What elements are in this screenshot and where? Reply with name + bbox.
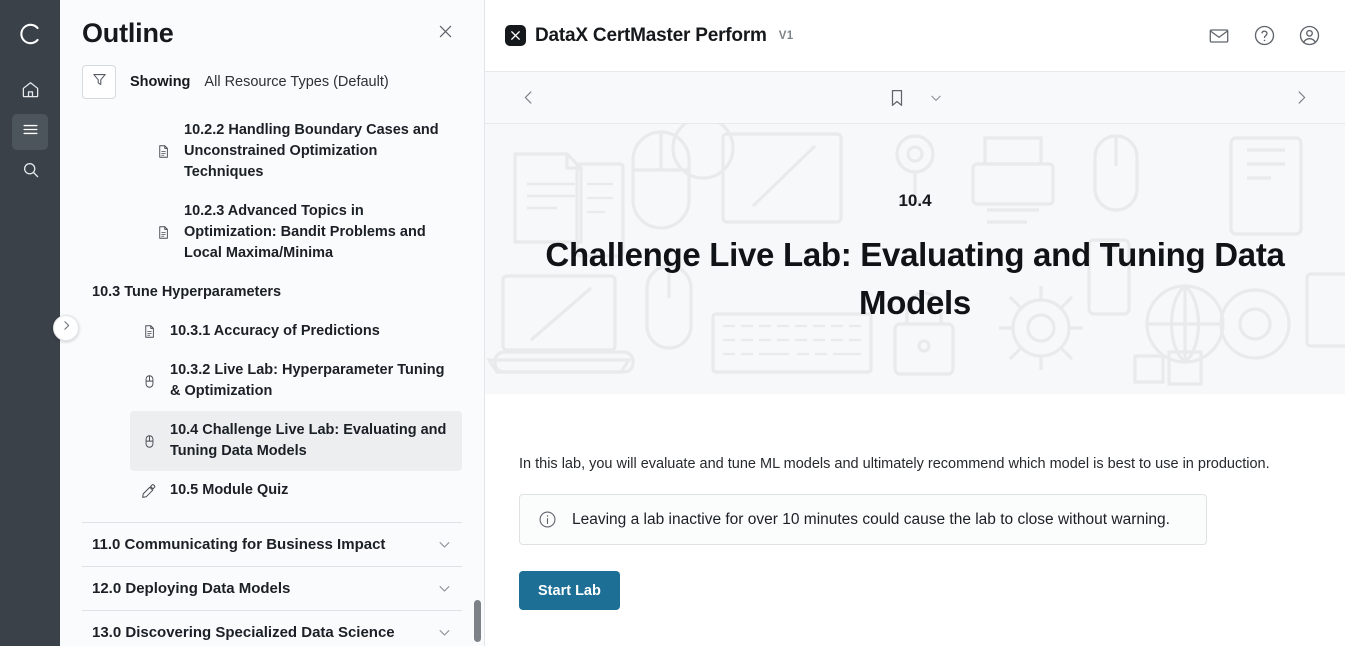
list-item[interactable]: 10.3.1 Accuracy of Predictions xyxy=(130,312,462,351)
list-item-label: 10.5 Module Quiz xyxy=(170,480,288,501)
close-outline-button[interactable] xyxy=(430,19,460,49)
list-item[interactable]: 10.5 Module Quiz xyxy=(130,471,462,510)
list-item-selected[interactable]: 10.4 Challenge Live Lab: Evaluating and … xyxy=(130,411,462,471)
document-icon xyxy=(140,324,158,339)
outline-scrollbar-track[interactable] xyxy=(474,0,481,646)
list-item[interactable]: 10.2.2 Handling Boundary Cases and Uncon… xyxy=(144,111,462,192)
list-item-label: 10.2.2 Handling Boundary Cases and Uncon… xyxy=(184,120,454,183)
lesson-body: In this lab, you will evaluate and tune … xyxy=(485,394,1345,610)
list-item[interactable]: 10.3 Tune Hyperparameters xyxy=(82,273,462,312)
c-logo-icon[interactable] xyxy=(12,16,48,52)
hamburger-menu-icon xyxy=(21,120,40,144)
lesson-navbar xyxy=(485,72,1345,124)
showing-label: Showing xyxy=(130,74,190,90)
pencil-edit-icon xyxy=(140,483,158,499)
lesson-number: 10.4 xyxy=(898,191,931,211)
chevron-right-icon xyxy=(60,319,73,337)
chevron-down-icon xyxy=(437,537,452,552)
outline-panel: Outline Showing All Resource Types (Defa… xyxy=(60,0,485,646)
section-row[interactable]: 11.0 Communicating for Business Impact xyxy=(82,522,462,566)
chevron-down-icon[interactable] xyxy=(929,91,943,105)
lesson-title: Challenge Live Lab: Evaluating and Tunin… xyxy=(520,231,1310,327)
app-topbar: DataX CertMaster Perform V1 xyxy=(485,0,1345,72)
brand: DataX CertMaster Perform V1 xyxy=(505,25,793,47)
page-title: Outline xyxy=(82,18,174,49)
brand-name: DataX CertMaster Perform xyxy=(535,25,767,47)
next-lesson-button[interactable] xyxy=(1292,88,1311,107)
document-icon xyxy=(154,225,172,240)
rail-icon-group xyxy=(12,74,48,190)
search-icon xyxy=(21,160,40,184)
list-item-label: 10.3.2 Live Lab: Hyperparameter Tuning &… xyxy=(170,360,454,402)
list-item-label: 10.3.1 Accuracy of Predictions xyxy=(170,321,380,342)
lesson-intro-text: In this lab, you will evaluate and tune … xyxy=(519,454,1311,474)
panel-collapse-button[interactable] xyxy=(53,315,79,341)
user-account-icon[interactable] xyxy=(1295,22,1323,50)
list-item[interactable]: 10.3.2 Live Lab: Hyperparameter Tuning &… xyxy=(130,351,462,411)
list-item-label: 10.2.3 Advanced Topics in Optimization: … xyxy=(184,201,454,264)
left-nav-rail xyxy=(0,0,60,646)
section-label: 12.0 Deploying Data Models xyxy=(92,580,290,597)
showing-value[interactable]: All Resource Types (Default) xyxy=(204,74,388,90)
datax-logo-icon xyxy=(505,25,526,46)
section-row[interactable]: 12.0 Deploying Data Models xyxy=(82,566,462,610)
section-label: 13.0 Discovering Specialized Data Scienc… xyxy=(92,624,395,641)
list-item-label: 10.3 Tune Hyperparameters xyxy=(92,282,281,303)
version-badge: V1 xyxy=(779,30,794,42)
bookmark-group xyxy=(485,88,1345,108)
bookmark-icon[interactable] xyxy=(887,88,907,108)
topbar-actions xyxy=(1205,22,1323,50)
mouse-icon xyxy=(140,434,158,449)
home-icon xyxy=(21,80,40,104)
sidebar-item-outline[interactable] xyxy=(12,114,48,150)
close-icon xyxy=(436,22,455,46)
list-item[interactable]: 10.2.3 Advanced Topics in Optimization: … xyxy=(144,192,462,273)
outline-list: 10.2.2 Handling Boundary Cases and Uncon… xyxy=(60,111,484,646)
sidebar-item-search[interactable] xyxy=(12,154,48,190)
chevron-down-icon xyxy=(437,581,452,596)
help-circle-icon[interactable] xyxy=(1250,22,1278,50)
prev-lesson-button[interactable] xyxy=(519,88,538,107)
outline-header: Outline xyxy=(60,0,484,55)
section-row[interactable]: 13.0 Discovering Specialized Data Scienc… xyxy=(82,610,462,646)
filter-funnel-icon xyxy=(91,71,108,93)
mail-icon[interactable] xyxy=(1205,22,1233,50)
lesson-banner: 10.4 Challenge Live Lab: Evaluating and … xyxy=(485,124,1345,394)
start-lab-button[interactable]: Start Lab xyxy=(519,571,620,610)
info-circle-icon xyxy=(538,510,558,529)
info-callout-text: Leaving a lab inactive for over 10 minut… xyxy=(572,511,1170,529)
filter-row: Showing All Resource Types (Default) xyxy=(60,55,484,111)
info-callout: Leaving a lab inactive for over 10 minut… xyxy=(519,494,1207,545)
sidebar-item-home[interactable] xyxy=(12,74,48,110)
chevron-down-icon xyxy=(437,625,452,640)
section-label: 11.0 Communicating for Business Impact xyxy=(92,536,385,553)
outline-scrollbar-thumb[interactable] xyxy=(474,600,481,642)
main-content: DataX CertMaster Perform V1 xyxy=(485,0,1345,646)
mouse-icon xyxy=(140,374,158,389)
document-icon xyxy=(154,144,172,159)
list-item-label: 10.4 Challenge Live Lab: Evaluating and … xyxy=(170,420,454,462)
app-root: Outline Showing All Resource Types (Defa… xyxy=(0,0,1345,646)
filter-button[interactable] xyxy=(82,65,116,99)
